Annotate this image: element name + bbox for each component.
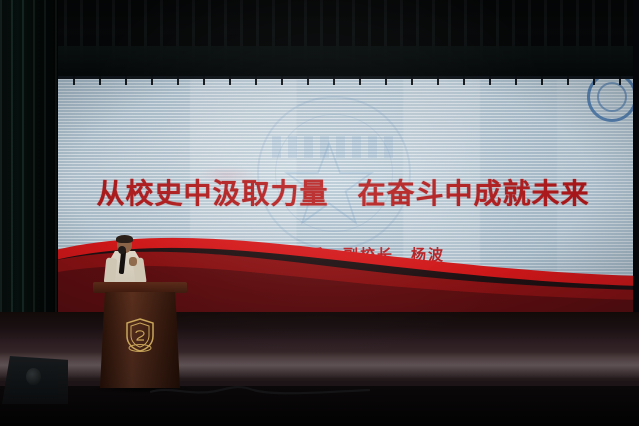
presenter-hair — [116, 235, 133, 243]
microphone-capsule — [118, 246, 126, 254]
floor-cable — [150, 384, 370, 398]
presenter-hand — [129, 257, 137, 266]
school-crest-icon — [125, 318, 155, 352]
stage-photo: 从校史中汲取力量 在奋斗中成就未来 校党委常委 副校长 杨波 2025年9月9日 — [0, 0, 639, 426]
ceiling-backdrop — [0, 0, 639, 78]
podium — [95, 282, 185, 388]
podium-lectern-top — [93, 282, 187, 293]
ceiling-valance-band — [0, 46, 639, 78]
stage-monitor-driver — [26, 368, 41, 385]
presenter — [104, 236, 146, 286]
